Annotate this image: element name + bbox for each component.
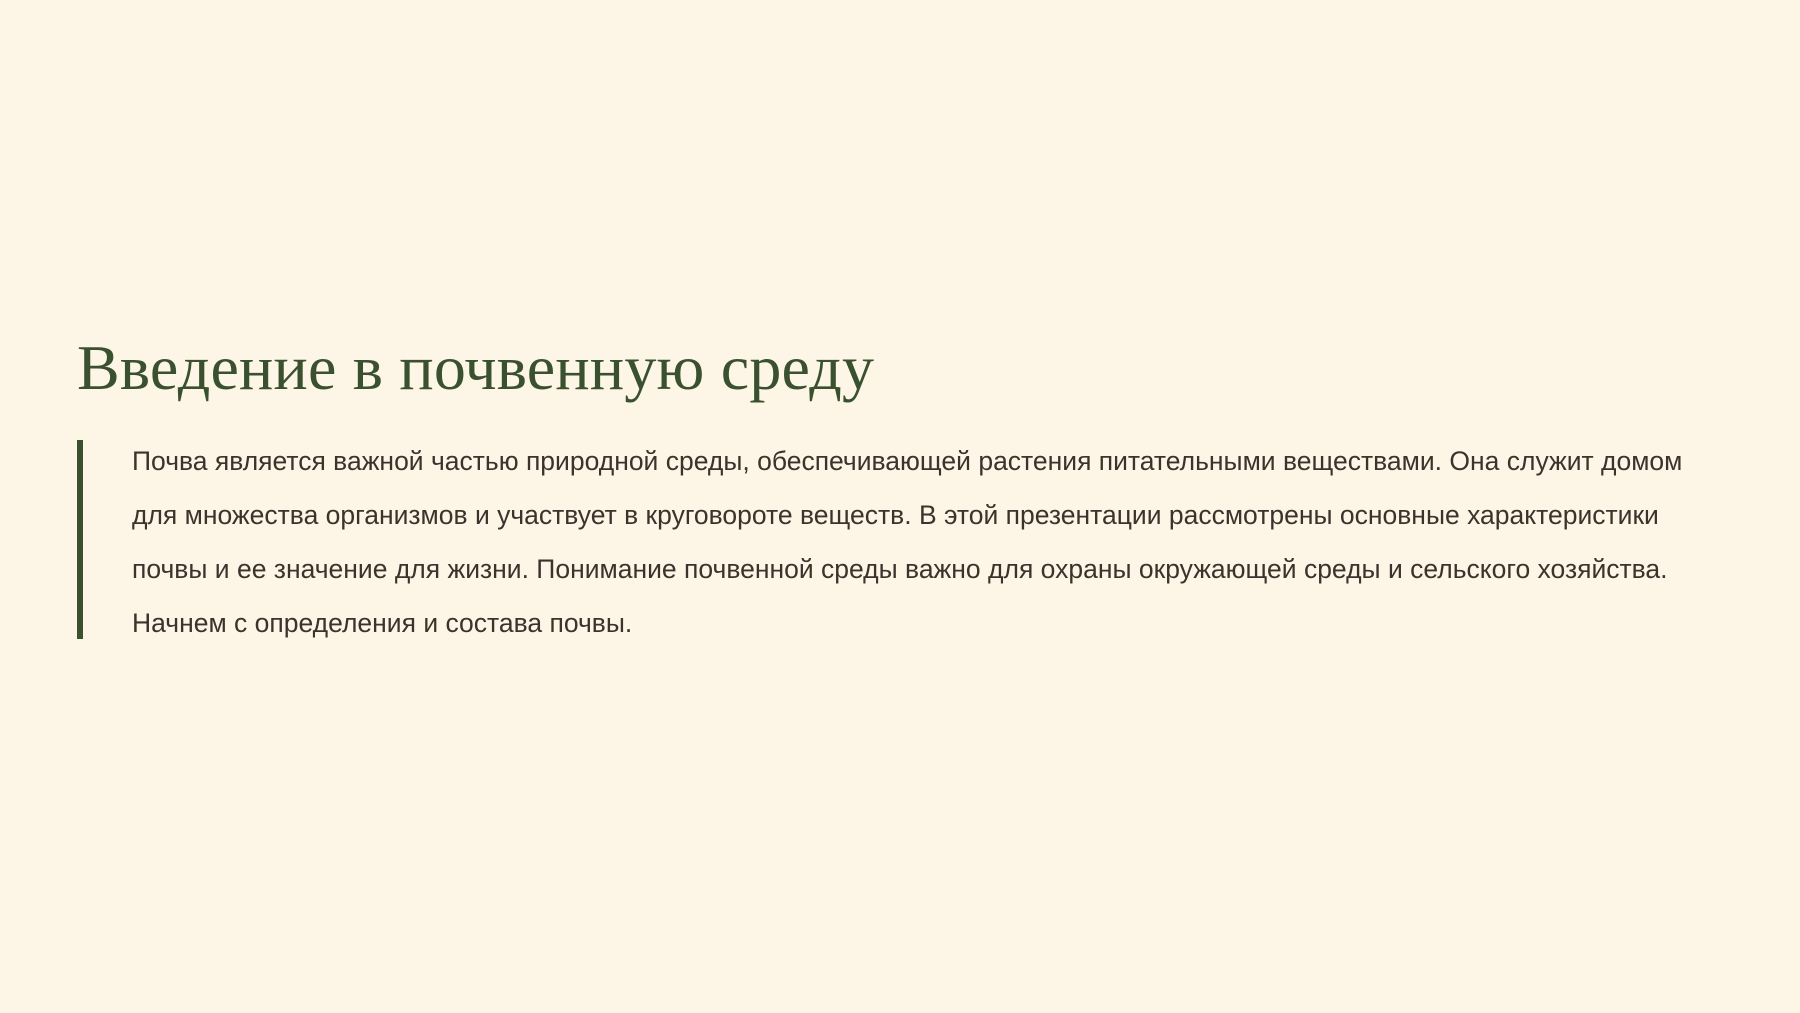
slide-content-container: Введение в почвенную среду Почва являетс…	[77, 330, 1717, 650]
page-title: Введение в почвенную среду	[77, 330, 1717, 406]
body-quote-block: Почва является важной частью природной с…	[77, 434, 1717, 650]
body-paragraph: Почва является важной частью природной с…	[132, 434, 1702, 650]
accent-bar	[77, 440, 83, 639]
presentation-slide: Введение в почвенную среду Почва являетс…	[0, 0, 1800, 1013]
